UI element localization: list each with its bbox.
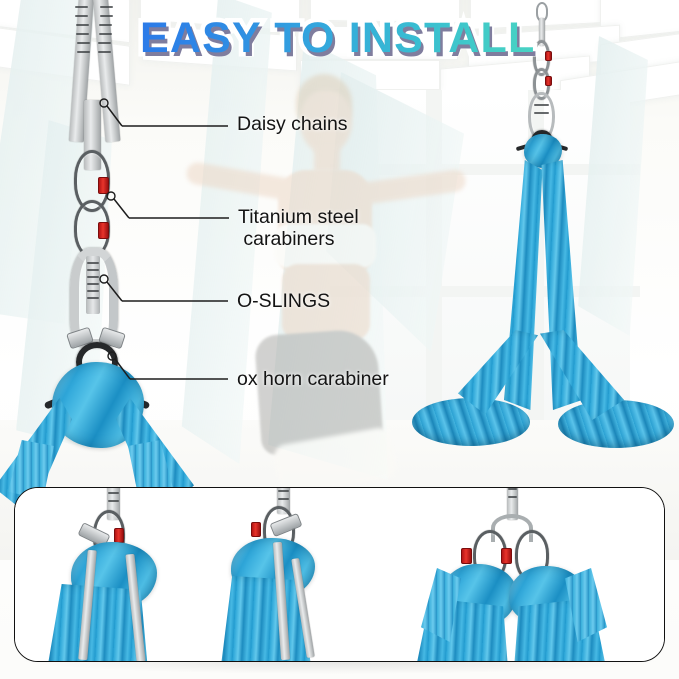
detail-photo-3 bbox=[415, 488, 665, 661]
detail-photo-1 bbox=[15, 488, 215, 661]
callout-label-daisy-chains: Daisy chains bbox=[237, 113, 348, 135]
leader-daisy-chains bbox=[100, 99, 228, 126]
callout-label-ox-horn-carabiner: ox horn carabiner bbox=[237, 368, 389, 390]
callout-label-o-slings: O-SLINGS bbox=[237, 290, 330, 312]
bottom-detail-panel bbox=[14, 487, 665, 662]
leader-o-slings bbox=[100, 275, 228, 301]
leader-ox-horn-carabiner bbox=[108, 352, 228, 379]
bottom-panel-shadow bbox=[20, 660, 659, 674]
lock-sleeve bbox=[251, 522, 261, 537]
infographic-canvas: EASY TO INSTALL EASY TO INSTALL EASY TO … bbox=[0, 0, 679, 679]
callout-label-titanium-steel: Titanium steel carabiners bbox=[238, 206, 359, 250]
lock-sleeve-right bbox=[501, 548, 512, 564]
lock-sleeve-left bbox=[461, 548, 472, 564]
detail-photo-2 bbox=[215, 488, 415, 661]
lock-sleeve bbox=[114, 528, 124, 543]
leader-titanium-steel bbox=[107, 192, 229, 218]
